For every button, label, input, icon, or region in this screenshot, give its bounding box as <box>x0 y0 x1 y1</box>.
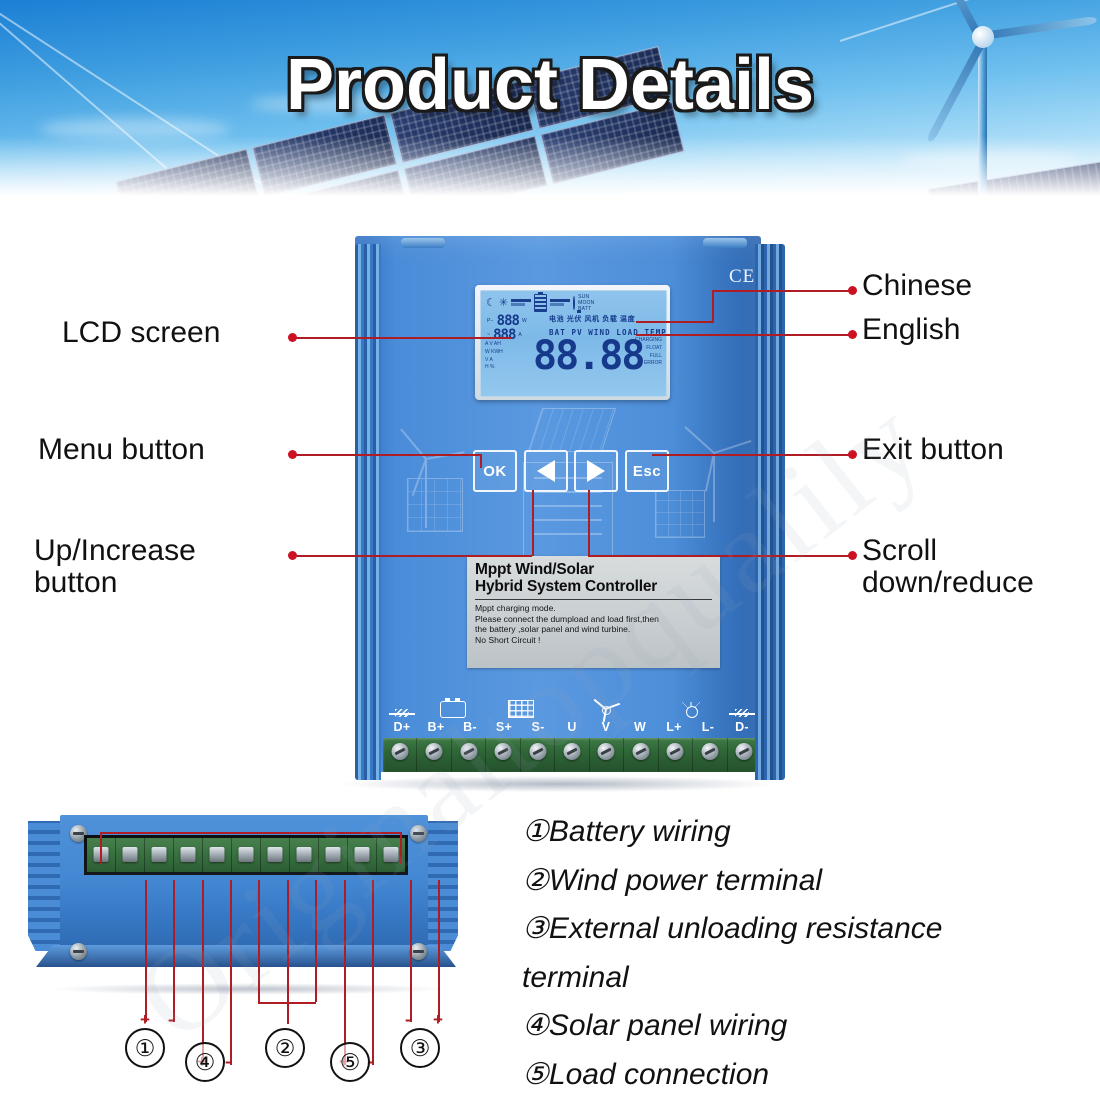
wind-turbine-icon <box>591 700 621 718</box>
plate-instructions: Mppt charging mode. Please connect the d… <box>475 603 712 646</box>
terminal-screw[interactable] <box>174 838 203 872</box>
leader-line <box>230 880 232 1065</box>
terminal-label: V <box>589 720 623 734</box>
leader-line <box>400 832 402 864</box>
terminal-screw[interactable] <box>348 838 377 872</box>
leader-line <box>636 321 714 323</box>
battery-icon <box>534 294 547 312</box>
marker-3: ③ <box>400 1028 440 1068</box>
callout-dot <box>848 551 857 560</box>
callout-menu-button: Menu button <box>38 434 205 466</box>
terminal-screw[interactable] <box>319 838 348 872</box>
leader-line <box>145 880 147 1022</box>
mounting-screw <box>410 825 427 842</box>
leader-line <box>202 880 204 1065</box>
leader-line <box>292 555 532 557</box>
lamp-icon <box>682 702 700 718</box>
callout-dot <box>848 330 857 339</box>
legend-item: ①Battery wiring <box>522 808 1092 857</box>
leader-line <box>292 337 512 339</box>
lcd-right-status: CHARGING FLOAT FULL ERROR <box>635 337 662 368</box>
button-row: OK Esc <box>473 450 669 490</box>
mounting-foot <box>36 945 456 967</box>
polarity-plus: + <box>140 1010 150 1030</box>
leader-line <box>652 454 852 456</box>
top-cap <box>401 238 445 248</box>
lcd-icon-row: ☾ ✳ SUN MOON BATT <box>486 294 660 312</box>
terminal-label: U <box>555 720 589 734</box>
polarity-minus: - <box>225 1052 231 1072</box>
leader-line <box>173 880 175 1022</box>
ce-mark: CE <box>729 266 755 288</box>
lcd-main-digits: 88.88 <box>533 337 643 375</box>
polarity-plus: + <box>433 1010 443 1030</box>
leader-line <box>438 880 440 1022</box>
esc-button[interactable]: Esc <box>625 450 669 492</box>
leader-line <box>588 490 590 556</box>
heatsink-fins-left <box>355 244 381 780</box>
terminal-screw[interactable] <box>590 738 624 772</box>
leader-line <box>287 880 289 1002</box>
terminal-screw[interactable] <box>693 738 727 772</box>
callout-english: English <box>862 314 960 346</box>
product-details-page: Product Details Originaltopqualily <box>0 0 1100 1100</box>
legend-list: ①Battery wiring ②Wind power terminal ③Ex… <box>522 808 1092 1100</box>
resistor-icon <box>389 708 415 718</box>
marker-5: ⑤ <box>330 1042 370 1082</box>
callout-scroll-down-reduce: Scroll down/reduce <box>862 535 1034 600</box>
marker-1: ① <box>125 1028 165 1068</box>
marker-2: ② <box>265 1028 305 1068</box>
controller-rear-photo <box>18 805 488 1005</box>
leader-line <box>344 880 346 1065</box>
terminal-screw[interactable] <box>116 838 145 872</box>
battery-icon <box>440 701 466 718</box>
callout-exit-button: Exit button <box>862 434 1004 466</box>
plate-title-line2: Hybrid System Controller <box>475 578 712 595</box>
terminal-screw[interactable] <box>555 738 589 772</box>
terminal-screw[interactable] <box>624 738 658 772</box>
terminal-screw[interactable] <box>203 838 232 872</box>
callout-chinese: Chinese <box>862 270 972 302</box>
callout-dot <box>288 333 297 342</box>
leader-line <box>315 880 317 1002</box>
leader-line <box>100 832 102 864</box>
callout-dot <box>848 286 857 295</box>
callout-up-increase-button: Up/Increase button <box>34 535 196 600</box>
terminal-screw[interactable] <box>290 838 319 872</box>
terminal-screw[interactable] <box>417 738 451 772</box>
terminal-label: S+ <box>487 720 521 734</box>
terminal-label: B- <box>453 720 487 734</box>
marker-4: ④ <box>185 1042 225 1082</box>
legend-item: ⑤Load connection <box>522 1051 1092 1100</box>
left-arrow-button[interactable] <box>524 450 568 492</box>
legend-item: ③External unloading resistance terminal <box>522 905 1092 1002</box>
leader-line <box>588 555 852 557</box>
bulb-icon <box>573 298 575 309</box>
terminal-label: W <box>623 720 657 734</box>
leader-line <box>712 290 714 323</box>
solar-bars-icon <box>511 299 531 307</box>
terminal-screw[interactable] <box>486 738 520 772</box>
bars-icon <box>550 299 570 307</box>
leader-line <box>292 454 480 456</box>
leader-line <box>712 290 852 292</box>
callout-dot <box>848 450 857 459</box>
terminal-label-row: D+ B+ B- S+ S- U V W L+ L- D- <box>385 720 759 734</box>
controller-body: CE ☾ ✳ SUN MOON BATT P− 888 <box>355 236 761 772</box>
page-title: Product Details <box>0 44 1100 126</box>
terminal-block[interactable] <box>383 738 761 772</box>
top-cap <box>703 238 747 248</box>
heatsink-fins-left <box>28 821 62 951</box>
controller-front-photo: CE ☾ ✳ SUN MOON BATT P− 888 <box>335 228 785 788</box>
plate-title-line1: Mppt Wind/Solar <box>475 561 712 578</box>
leader-line <box>258 880 260 1002</box>
polarity-minus: - <box>168 1010 174 1030</box>
sun-icon: ✳ <box>499 298 508 309</box>
terminal-screw[interactable] <box>521 738 555 772</box>
moon-icon: ☾ <box>486 298 496 309</box>
left-arrow-icon <box>537 460 555 482</box>
polarity-minus: - <box>405 1010 411 1030</box>
terminal-screw[interactable] <box>261 838 290 872</box>
mounting-screw <box>410 943 427 960</box>
terminal-screw[interactable] <box>145 838 174 872</box>
terminal-screw[interactable] <box>232 838 261 872</box>
terminal-label: L+ <box>657 720 691 734</box>
leader-line <box>100 832 400 834</box>
mounting-screw <box>70 943 87 960</box>
terminal-label: S- <box>521 720 555 734</box>
product-label-plate: Mppt Wind/Solar Hybrid System Controller… <box>467 556 720 668</box>
callout-dot <box>288 551 297 560</box>
callout-lcd-screen: LCD screen <box>62 317 220 349</box>
terminal-screw[interactable] <box>383 738 417 772</box>
legend-item: ②Wind power terminal <box>522 857 1092 906</box>
heatsink-fins-right <box>424 821 458 951</box>
leader-line <box>410 880 412 1022</box>
terminal-label: B+ <box>419 720 453 734</box>
terminal-label: L- <box>691 720 725 734</box>
leader-line <box>480 454 482 468</box>
rear-terminal-block[interactable] <box>84 835 408 875</box>
lcd-screen[interactable]: ☾ ✳ SUN MOON BATT P− 888 W ~ <box>475 285 670 400</box>
leader-line <box>287 1002 289 1024</box>
right-arrow-icon <box>587 460 605 482</box>
heatsink-fins-right <box>755 244 785 780</box>
leader-line <box>532 490 534 556</box>
header-banner: Product Details <box>0 0 1100 196</box>
leader-line <box>372 880 374 1065</box>
terminal-screw[interactable] <box>659 738 693 772</box>
callout-dot <box>288 450 297 459</box>
right-arrow-button[interactable] <box>574 450 618 492</box>
terminal-label: D+ <box>385 720 419 734</box>
leader-line <box>636 334 852 336</box>
terminal-screw[interactable] <box>452 738 486 772</box>
legend-item: ④Solar panel wiring <box>522 1002 1092 1051</box>
terminal-icon-row <box>385 692 759 718</box>
solar-panel-icon <box>508 700 534 718</box>
lcd-left-units: A V AH W KWH V A H % <box>485 341 503 372</box>
resistor-icon <box>729 708 755 718</box>
terminal-label: D- <box>725 720 759 734</box>
lcd-chinese-labels: 电池 光伏 风机 负载 温度 <box>549 314 635 324</box>
